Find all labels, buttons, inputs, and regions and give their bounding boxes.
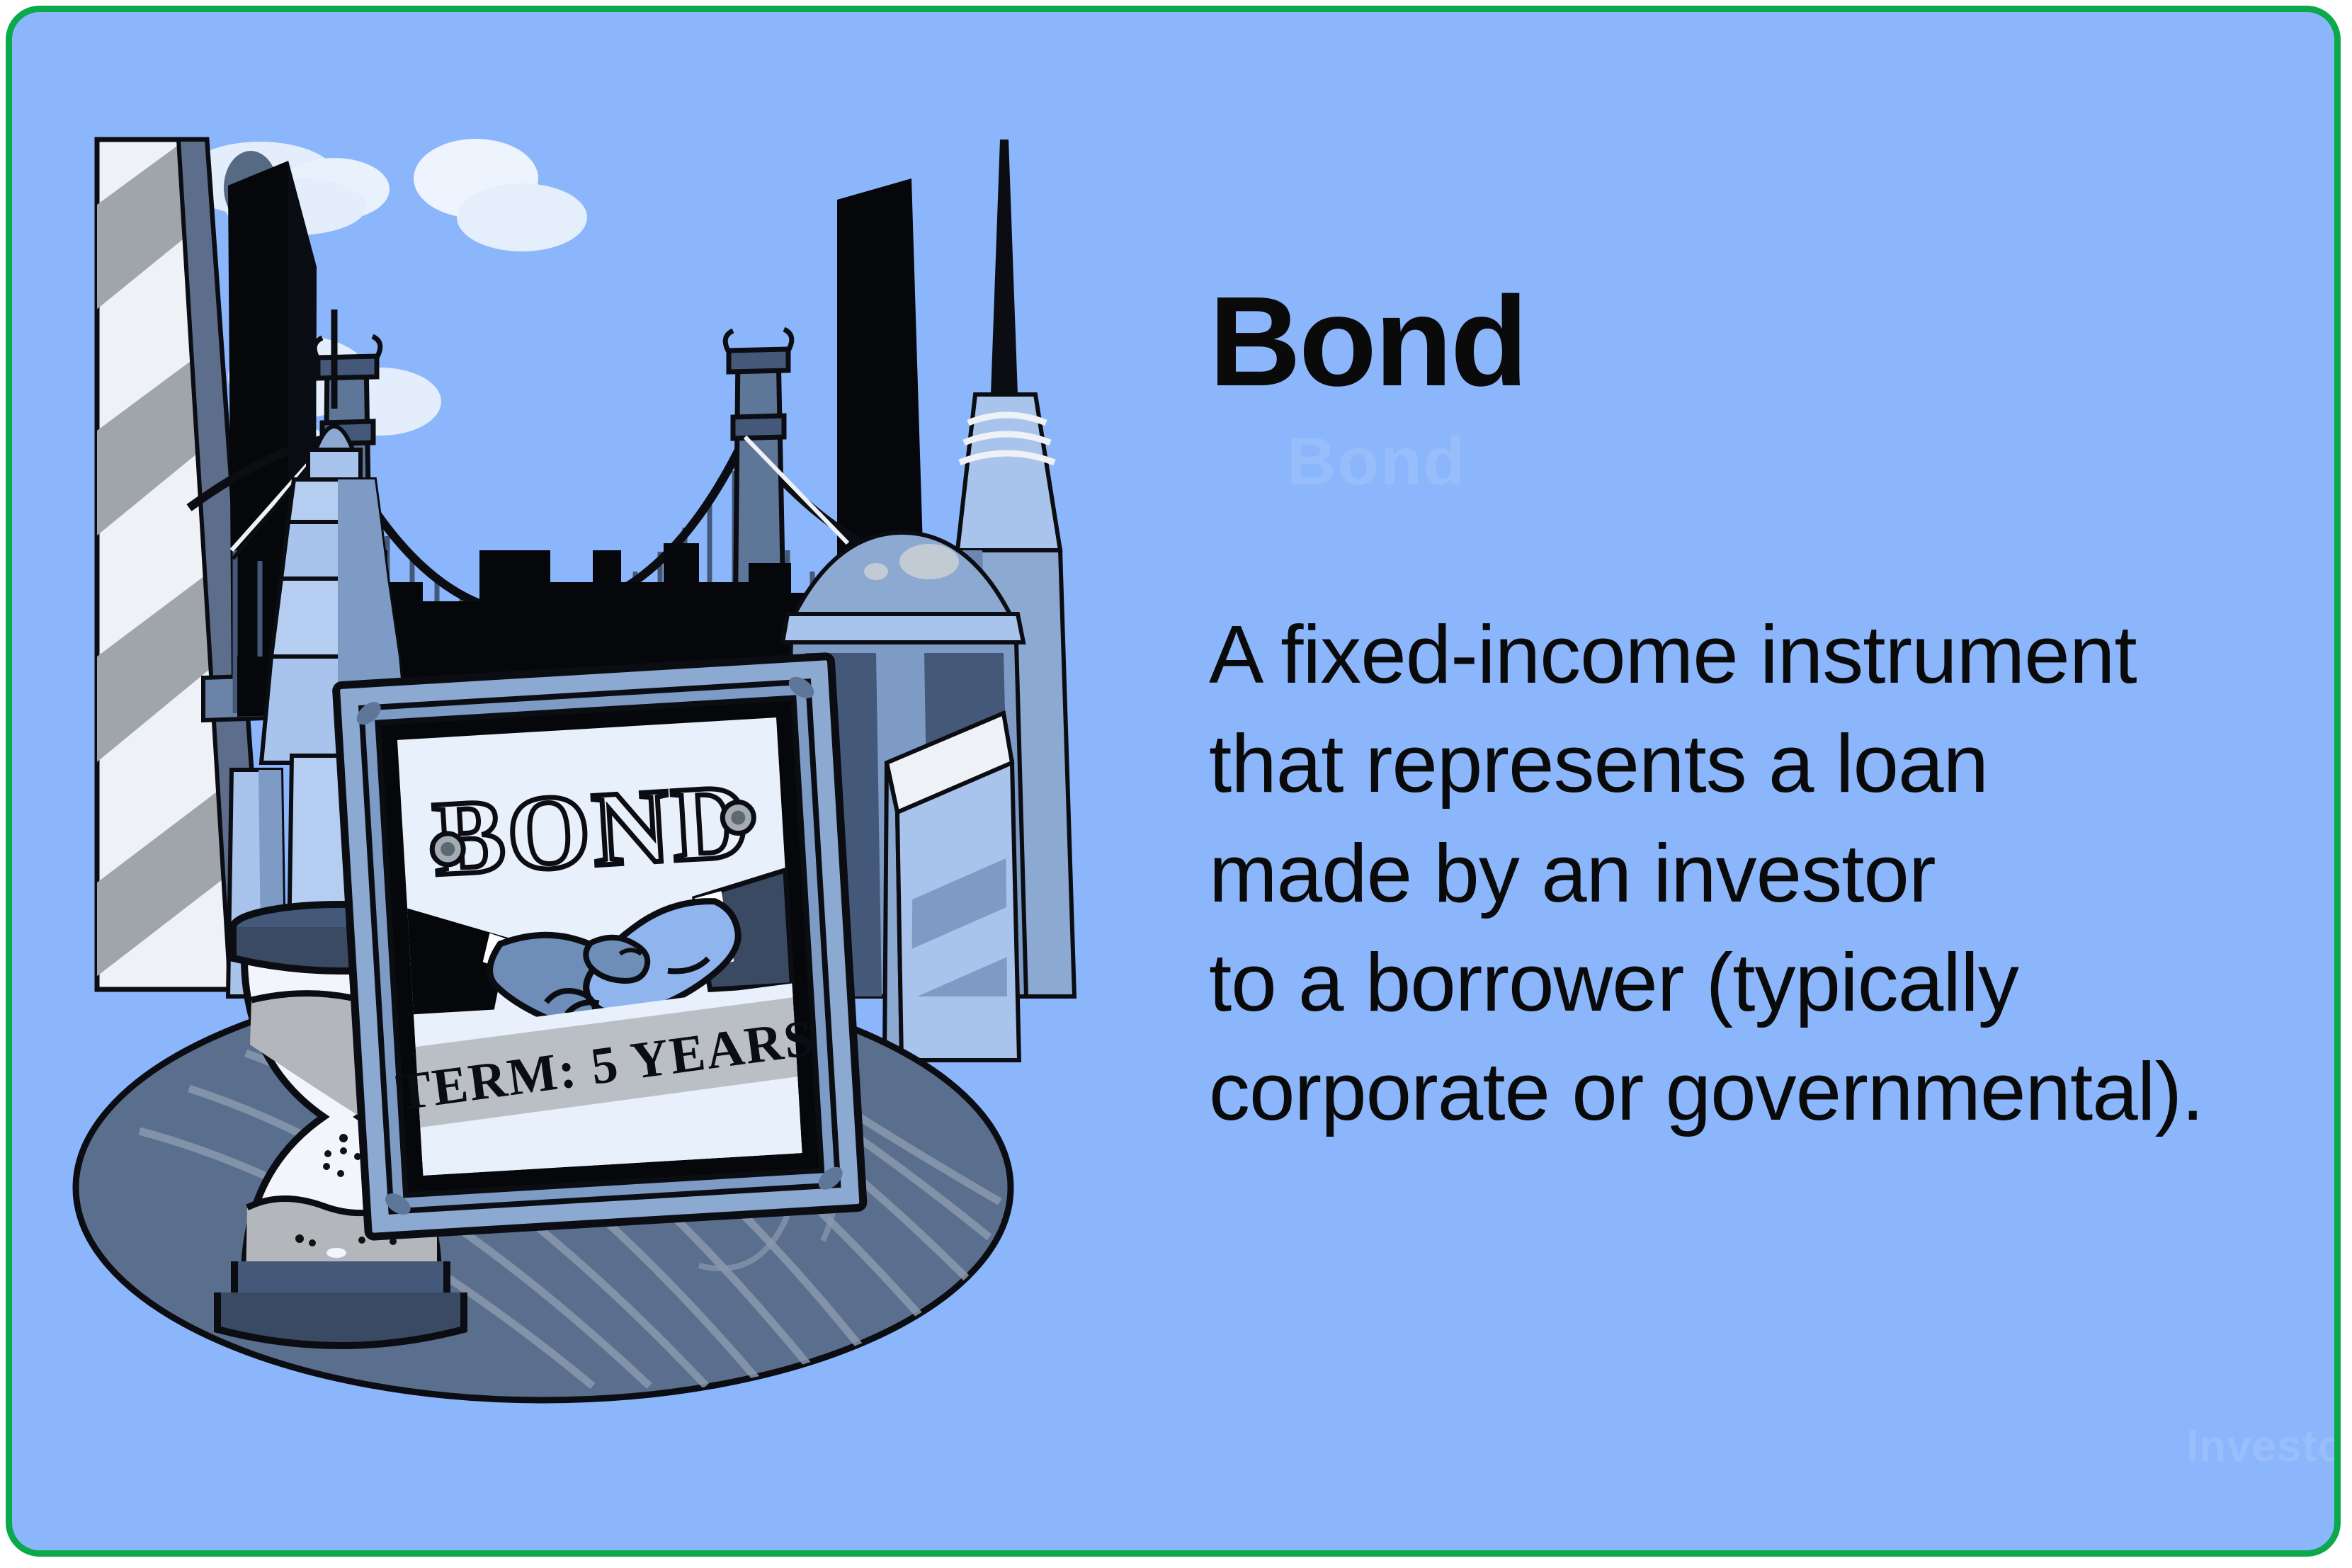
watermark-top: Bond [1287, 423, 1466, 501]
definition-line-4: to a borrower (typically [1209, 928, 2314, 1037]
certificate-title-text: BOND [428, 761, 757, 898]
term-definition: A fixed-income instrument that represent… [1209, 600, 2314, 1146]
definition-line-1: A fixed-income instrument [1209, 600, 2314, 709]
term-title: Bond [1209, 278, 1526, 406]
definition-line-2: that represents a loan [1209, 709, 2314, 818]
framed-certificate: BOND [336, 656, 863, 1237]
text-column: Bond Bond A fixed-income instrument that… [1209, 12, 2314, 1550]
svg-text:BOND: BOND [431, 762, 755, 898]
definition-line-5: corporate or governmental). [1209, 1037, 2314, 1146]
definition-line-3: made by an investor [1209, 819, 2314, 928]
bond-illustration: BOND [55, 55, 1159, 1443]
flashcard: BOND [6, 6, 2341, 1557]
watermark-bottom: Investopedia [2186, 1421, 2341, 1472]
